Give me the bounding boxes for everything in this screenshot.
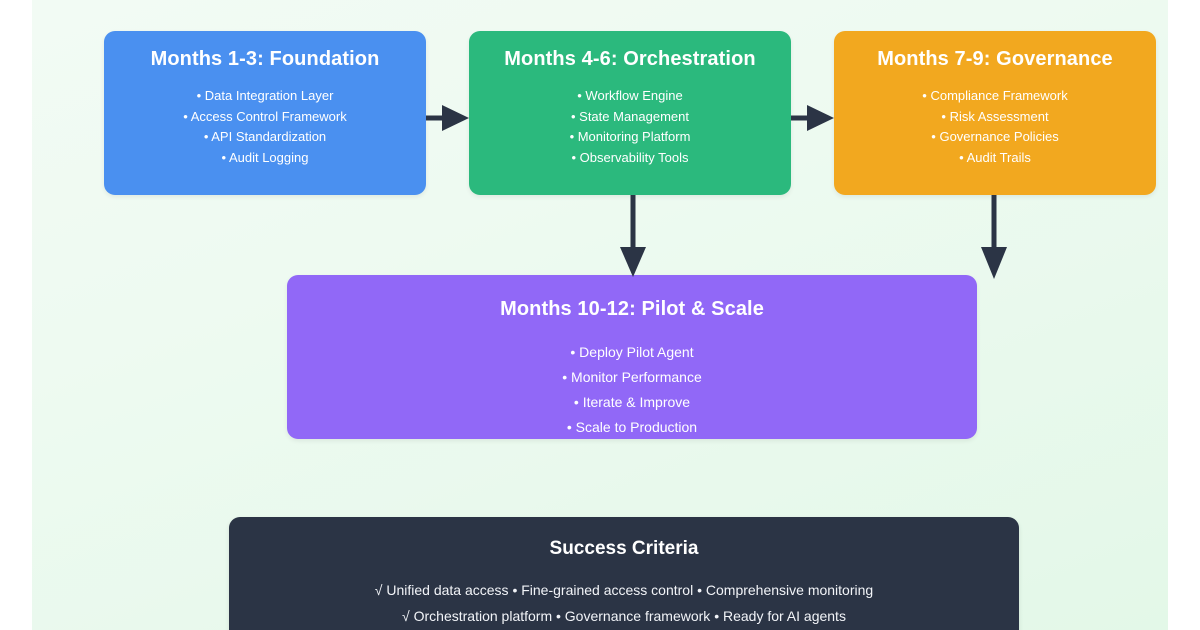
arrow-right-icon-orchestration-to-governance — [791, 98, 835, 138]
phase-title-foundation: Months 1-3: Foundation — [118, 47, 412, 72]
success-criteria-line: √ Orchestration platform • Governance fr… — [229, 603, 1019, 629]
phase-item: • Iterate & Improve — [301, 390, 963, 415]
phase-item: • Deploy Pilot Agent — [301, 340, 963, 365]
phase-item-list-orchestration: • Workflow Engine • State Management • M… — [483, 86, 777, 168]
phase-item: • API Standardization — [118, 127, 412, 148]
phase-item-list-pilot-and-scale: • Deploy Pilot Agent • Monitor Performan… — [301, 340, 963, 440]
phase-title-orchestration: Months 4-6: Orchestration — [483, 47, 777, 72]
phase-item: • Workflow Engine — [483, 86, 777, 107]
phase-item: • Audit Logging — [118, 148, 412, 169]
phase-card-foundation[interactable]: Months 1-3: Foundation • Data Integratio… — [104, 31, 426, 195]
phase-item: • Monitoring Platform — [483, 127, 777, 148]
success-criteria-line: √ Unified data access • Fine-grained acc… — [229, 577, 1019, 603]
success-criteria-title: Success Criteria — [229, 538, 1019, 560]
phase-item: • Audit Trails — [848, 148, 1142, 169]
phase-item: • Governance Policies — [848, 127, 1142, 148]
phase-item: • Monitor Performance — [301, 365, 963, 390]
phase-item: • Scale to Production — [301, 415, 963, 440]
phase-item: • Risk Assessment — [848, 107, 1142, 128]
phase-item-list-foundation: • Data Integration Layer • Access Contro… — [118, 86, 412, 168]
arrow-down-icon-governance-to-pilot — [979, 195, 1009, 279]
phase-card-governance[interactable]: Months 7-9: Governance • Compliance Fram… — [834, 31, 1156, 195]
diagram-canvas: Months 1-3: Foundation • Data Integratio… — [0, 0, 1200, 630]
phase-item: • State Management — [483, 107, 777, 128]
arrow-right-icon-foundation-to-orchestration — [426, 98, 470, 138]
phase-title-pilot-and-scale: Months 10-12: Pilot & Scale — [301, 297, 963, 322]
phase-title-governance: Months 7-9: Governance — [848, 47, 1142, 72]
success-criteria-lines: √ Unified data access • Fine-grained acc… — [229, 577, 1019, 629]
phase-card-orchestration[interactable]: Months 4-6: Orchestration • Workflow Eng… — [469, 31, 791, 195]
phase-item: • Observability Tools — [483, 148, 777, 169]
arrow-down-icon-orchestration-to-pilot — [618, 195, 648, 277]
diagram-board: Months 1-3: Foundation • Data Integratio… — [32, 0, 1168, 630]
phase-item: • Data Integration Layer — [118, 86, 412, 107]
phase-item: • Compliance Framework — [848, 86, 1142, 107]
success-criteria-panel: Success Criteria √ Unified data access •… — [229, 517, 1019, 630]
phase-item-list-governance: • Compliance Framework • Risk Assessment… — [848, 86, 1142, 168]
phase-item: • Access Control Framework — [118, 107, 412, 128]
phase-card-pilot-and-scale[interactable]: Months 10-12: Pilot & Scale • Deploy Pil… — [287, 275, 977, 439]
